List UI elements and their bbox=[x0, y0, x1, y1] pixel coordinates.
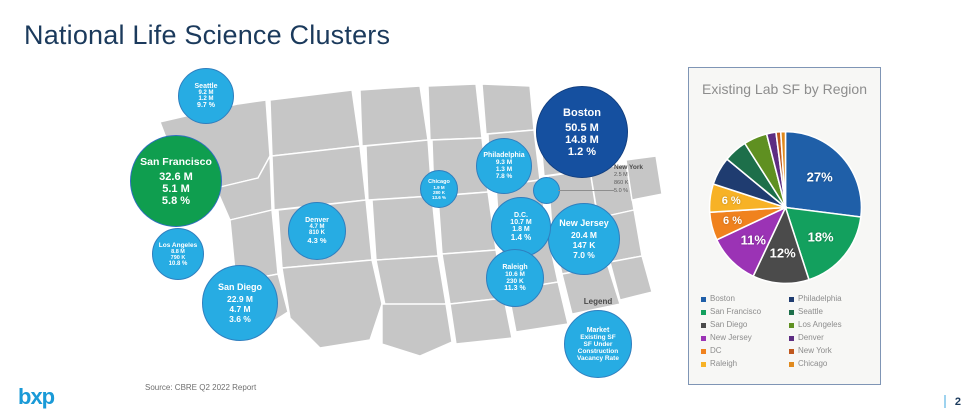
market-bubble-raleigh[interactable]: Raleigh 10.6 M 230 K 11.3 % bbox=[486, 249, 544, 307]
page-number-divider bbox=[944, 395, 946, 408]
bubble-vacancy-rate: 11.3 % bbox=[504, 285, 525, 292]
bubble-existing-sf: 10.7 M bbox=[510, 219, 531, 226]
bubble-under-construction: 14.8 M bbox=[565, 134, 599, 146]
legend-color-swatch bbox=[789, 362, 794, 367]
us-map-container: Seattle 9.2 M 1.2 M 9.7 % San Francisco … bbox=[120, 60, 680, 390]
legend-color-swatch bbox=[701, 323, 706, 328]
market-bubble-san-francisco[interactable]: San Francisco 32.6 M 5.1 M 5.8 % bbox=[130, 135, 222, 227]
bubble-market-name: Philadelphia bbox=[483, 152, 524, 159]
pie-chart-title: Existing Lab SF by Region bbox=[689, 80, 880, 98]
legend-color-swatch bbox=[701, 336, 706, 341]
legend-color-swatch bbox=[789, 336, 794, 341]
bubble-existing-sf: 22.9 M bbox=[227, 294, 253, 304]
market-bubble-seattle[interactable]: Seattle 9.2 M 1.2 M 9.7 % bbox=[178, 68, 234, 124]
legend-item-label: Los Angeles bbox=[798, 319, 842, 331]
bubble-existing-sf: 20.4 M bbox=[571, 230, 597, 240]
legend-item-label: San Diego bbox=[710, 319, 747, 331]
bubble-market-name: Raleigh bbox=[502, 264, 527, 271]
bubble-vacancy-rate: 3.6 % bbox=[229, 314, 251, 324]
bubble-under-construction: 230 K bbox=[506, 278, 523, 285]
legend-existing-sf-label: Existing SF bbox=[580, 334, 615, 341]
market-bubble-new-york[interactable] bbox=[533, 177, 560, 204]
pie-legend-item[interactable]: Seattle bbox=[789, 306, 873, 318]
pie-legend-item[interactable]: Boston bbox=[701, 293, 785, 305]
bubble-vacancy-rate: 10.8 % bbox=[169, 261, 188, 267]
page-title: National Life Science Clusters bbox=[24, 18, 390, 52]
callout-existing-sf: 2.5 M bbox=[614, 171, 643, 179]
pie-legend-item[interactable]: DC bbox=[701, 345, 785, 357]
pie-slice-label: 27% bbox=[807, 170, 833, 185]
bubble-market-name: New Jersey bbox=[559, 218, 609, 228]
bubble-vacancy-rate: 1.4 % bbox=[511, 233, 531, 242]
bubble-under-construction: 1.8 M bbox=[512, 226, 530, 233]
pie-legend-item[interactable]: San Diego bbox=[701, 319, 785, 331]
slide-canvas: National Life Science Clusters bbox=[0, 0, 975, 418]
callout-market-name: New York bbox=[614, 164, 643, 171]
legend-market-label: Market bbox=[587, 327, 610, 334]
callout-under-construction: 860 K bbox=[614, 179, 643, 187]
legend-item-label: Boston bbox=[710, 293, 735, 305]
bubble-market-name: Los Angeles bbox=[159, 242, 197, 249]
legend-item-label: Raleigh bbox=[710, 358, 737, 370]
bubble-vacancy-rate: 5.8 % bbox=[162, 195, 190, 207]
pie-legend-item[interactable]: Denver bbox=[789, 332, 873, 344]
bubble-existing-sf: 9.3 M bbox=[496, 159, 512, 166]
bubble-existing-sf: 32.6 M bbox=[159, 171, 193, 183]
bubble-market-name: Denver bbox=[305, 217, 329, 224]
bubble-market-name: Boston bbox=[563, 107, 601, 119]
legend-item-label: New Jersey bbox=[710, 332, 752, 344]
pie-legend-item[interactable]: San Francisco bbox=[701, 306, 785, 318]
market-bubble-dc[interactable]: D.C. 10.7 M 1.8 M 1.4 % bbox=[491, 197, 551, 257]
market-bubble-new-jersey[interactable]: New Jersey 20.4 M 147 K 7.0 % bbox=[548, 203, 620, 275]
bubble-under-construction: 4.7 M bbox=[229, 304, 250, 314]
legend-color-swatch bbox=[701, 362, 706, 367]
legend-item-label: New York bbox=[798, 345, 832, 357]
bubble-market-name: San Francisco bbox=[140, 156, 212, 168]
legend-item-label: Denver bbox=[798, 332, 824, 344]
legend-color-swatch bbox=[701, 310, 706, 315]
source-note: Source: CBRE Q2 2022 Report bbox=[145, 383, 256, 392]
bubble-vacancy-rate: 7.8 % bbox=[496, 173, 513, 180]
bubble-vacancy-rate: 4.3 % bbox=[307, 236, 326, 245]
bubble-existing-sf: 50.5 M bbox=[565, 122, 599, 134]
bubble-vacancy-rate: 1.2 % bbox=[568, 146, 596, 158]
legend-color-swatch bbox=[701, 349, 706, 354]
market-bubble-san-diego[interactable]: San Diego 22.9 M 4.7 M 3.6 % bbox=[202, 265, 278, 341]
pie-slice-label: 12% bbox=[770, 245, 796, 260]
map-legend-bubble: Market Existing SF SF Under Construction… bbox=[564, 310, 632, 378]
pie-chart[interactable]: 27%18%12%11%6 %6 % bbox=[708, 130, 863, 285]
legend-color-swatch bbox=[701, 297, 706, 302]
legend-vacancy-rate-label: Vacancy Rate bbox=[577, 355, 619, 362]
legend-item-label: Philadelphia bbox=[798, 293, 842, 305]
pie-slice-label: 11% bbox=[741, 232, 766, 247]
bubble-vacancy-rate: 7.0 % bbox=[573, 250, 595, 260]
bubble-market-name: D.C. bbox=[514, 212, 528, 219]
pie-chart-legend: BostonPhiladelphiaSan FranciscoSeattleSa… bbox=[701, 293, 873, 370]
market-bubble-philadelphia[interactable]: Philadelphia 9.3 M 1.3 M 7.8 % bbox=[476, 138, 532, 194]
pie-legend-item[interactable]: Los Angeles bbox=[789, 319, 873, 331]
pie-legend-item[interactable]: Chicago bbox=[789, 358, 873, 370]
legend-color-swatch bbox=[789, 310, 794, 315]
pie-legend-item[interactable]: New York bbox=[789, 345, 873, 357]
market-bubble-chicago[interactable]: Chicago 1.9 M 280 K 13.6 % bbox=[420, 170, 458, 208]
legend-color-swatch bbox=[789, 349, 794, 354]
legend-under-construction-label: SF Under Construction bbox=[565, 341, 631, 355]
bubble-market-name: Seattle bbox=[195, 83, 218, 90]
legend-color-swatch bbox=[789, 297, 794, 302]
pie-legend-item[interactable]: Raleigh bbox=[701, 358, 785, 370]
legend-item-label: DC bbox=[710, 345, 722, 357]
pie-slice-label: 6 % bbox=[723, 215, 742, 227]
new-york-leader-line bbox=[558, 190, 614, 191]
bubble-under-construction: 5.1 M bbox=[162, 183, 190, 195]
legend-item-label: San Francisco bbox=[710, 306, 761, 318]
bubble-vacancy-rate: 13.6 % bbox=[432, 195, 446, 200]
bubble-market-name: San Diego bbox=[218, 282, 262, 292]
pie-legend-item[interactable]: Philadelphia bbox=[789, 293, 873, 305]
map-legend-caption: Legend bbox=[563, 297, 633, 306]
market-bubble-los-angeles[interactable]: Los Angeles 8.8 M 790 K 10.8 % bbox=[152, 228, 204, 280]
pie-chart-svg[interactable] bbox=[708, 130, 863, 285]
legend-item-label: Seattle bbox=[798, 306, 823, 318]
bubble-under-construction: 147 K bbox=[573, 240, 596, 250]
callout-vacancy-rate: 5.0 % bbox=[614, 187, 643, 195]
legend-color-swatch bbox=[789, 323, 794, 328]
page-number: 2 bbox=[955, 396, 961, 408]
page-number-group: 2 bbox=[944, 395, 961, 408]
pie-slice-label: 6 % bbox=[722, 195, 741, 207]
pie-legend-item[interactable]: New Jersey bbox=[701, 332, 785, 344]
pie-chart-panel: Existing Lab SF by Region 27%18%12%11%6 … bbox=[688, 67, 881, 385]
bxp-logo: bxp bbox=[18, 386, 54, 408]
bubble-vacancy-rate: 9.7 % bbox=[197, 102, 215, 109]
market-bubble-denver[interactable]: Denver 4.7 M 810 K 4.3 % bbox=[288, 202, 346, 260]
new-york-callout: New York 2.5 M 860 K 5.0 % bbox=[614, 164, 643, 195]
bubble-existing-sf: 10.6 M bbox=[505, 271, 525, 278]
pie-slice-label: 18% bbox=[808, 229, 834, 244]
legend-item-label: Chicago bbox=[798, 358, 827, 370]
bubble-under-construction: 1.3 M bbox=[496, 166, 512, 173]
